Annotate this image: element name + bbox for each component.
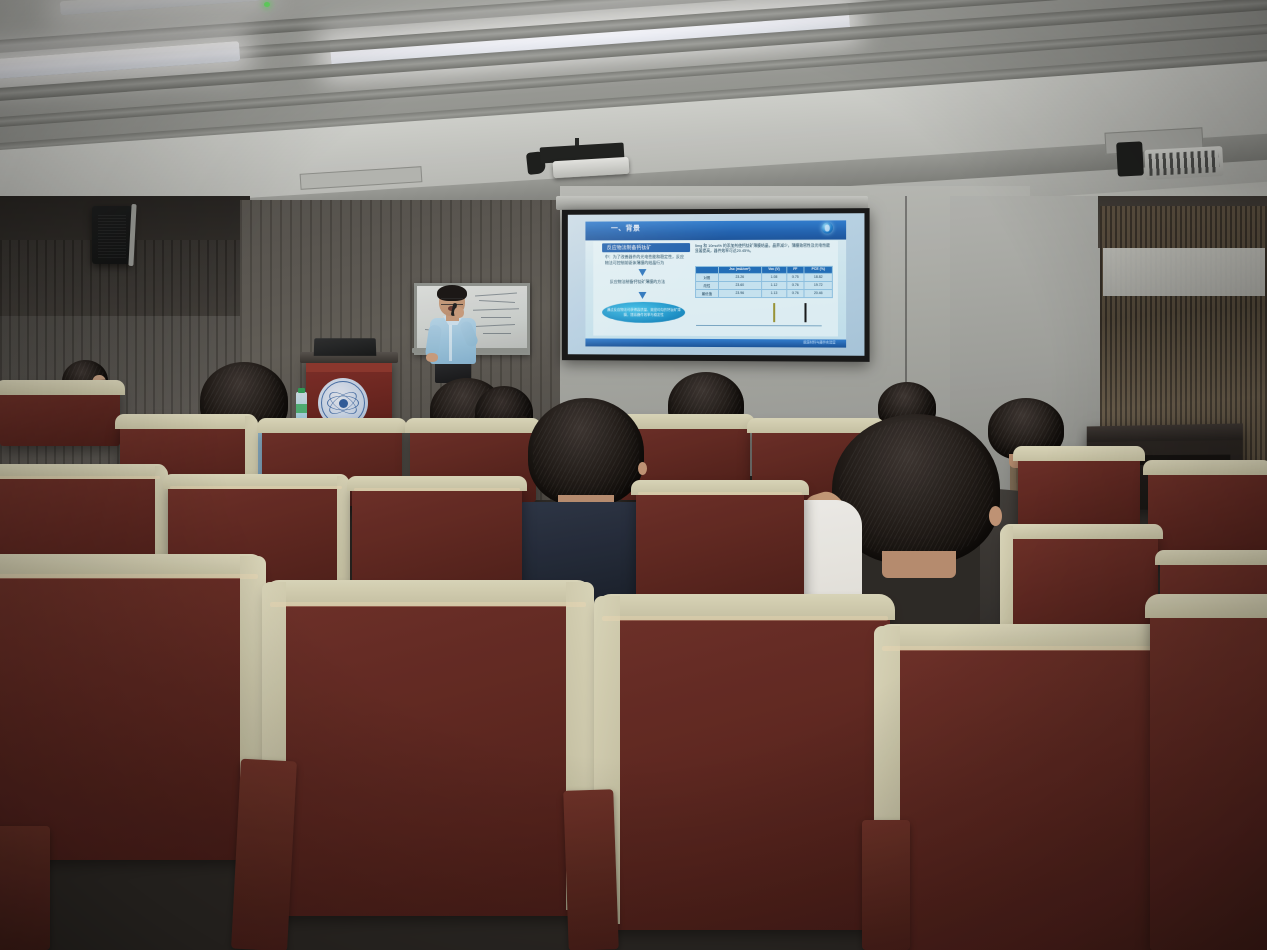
person-ear — [989, 506, 1002, 526]
table-cell: 0.76 — [787, 281, 804, 289]
bottle-label — [296, 404, 307, 413]
presenter-gesturing-hand — [426, 353, 438, 362]
seat-trim — [0, 380, 125, 395]
sample-image-dark — [804, 303, 806, 322]
slide-header-bar: 一、背景 — [585, 220, 846, 240]
table-cell: 19.72 — [804, 281, 833, 289]
presentation-slide: 一、背景 反应物法制备钙钛矿 中：为了改善器件的光电性能和稳定性，反应物法可控制… — [585, 220, 846, 347]
table-cell: 20.46 — [804, 289, 833, 297]
wall-mounted-loudspeaker — [92, 206, 132, 264]
audience-member — [528, 398, 644, 506]
flow-arrow-icon — [639, 269, 647, 276]
lecture-hall-photograph: 一、背景 反应物法制备钙钛矿 中：为了改善器件的光电性能和稳定性，反应物法可控制… — [0, 0, 1267, 950]
seat-back — [0, 560, 260, 860]
slide-footer-note: 能源材料与器件实验室 — [803, 340, 835, 345]
table-cell: 23.60 — [718, 281, 761, 289]
projection-screen: 一、背景 反应物法制备钙钛矿 中：为了改善器件的光电性能和稳定性，反应物法可控制… — [562, 208, 870, 362]
seat-trim — [1145, 594, 1267, 618]
seat-edge-highlight — [638, 492, 802, 495]
bottle-cap — [298, 388, 305, 393]
slide-process-diagram — [690, 312, 833, 332]
seat-back — [600, 600, 890, 930]
seat-armrest — [862, 820, 910, 950]
ceiling-bracket — [1116, 141, 1144, 176]
person-neck — [882, 551, 956, 578]
table-cell: 最优值 — [695, 289, 718, 297]
auditorium-seat — [1148, 466, 1267, 562]
table-cell: 0.75 — [787, 273, 804, 281]
auditorium-seat-foreground — [880, 630, 1180, 950]
seat-armrest — [0, 826, 50, 950]
flow-arrow-icon — [639, 292, 647, 299]
seat-edge-highlight — [354, 488, 520, 491]
seat-back — [1150, 600, 1267, 950]
seat-back — [0, 386, 120, 446]
table-cell: 23.96 — [718, 289, 761, 297]
desk-top — [1087, 423, 1243, 442]
auditorium-seat-foreground — [0, 560, 260, 860]
auditorium-seat-foreground — [1150, 600, 1267, 950]
projector-vent-grille — [1148, 150, 1219, 176]
slide-right-column: 5mg 和 10mol% 的添加剂使钙钛矿薄膜结晶，晶界减少，薄膜致密性及光电性… — [695, 244, 833, 255]
podium-front-strip — [306, 362, 392, 372]
table-header-cell: Jsc (mA/cm²) — [718, 266, 761, 273]
seat-trim — [1155, 550, 1267, 565]
seat-back — [268, 586, 588, 916]
seat-trim — [1013, 446, 1145, 461]
table-cell: 23.26 — [718, 273, 761, 281]
flow-conclusion-ellipse: 通过反应物法可获得高质量、致密均匀的钙钛矿薄膜，提高器件效率与稳定性 — [603, 302, 686, 323]
screen-surface: 一、背景 反应物法制备钙钛矿 中：为了改善器件的光电性能和稳定性，反应物法可控制… — [568, 213, 865, 356]
slide-paragraph: 5mg 和 10mol% 的添加剂使钙钛矿薄膜结晶，晶界减少，薄膜致密性及光电性… — [695, 244, 833, 255]
person-ear — [638, 462, 647, 475]
table-cell: 1.13 — [761, 289, 787, 297]
table-cell: 1.12 — [761, 281, 787, 289]
table-header-cell: FF — [787, 266, 804, 273]
table-cell: 改性 — [695, 281, 718, 289]
slide-footer-bar: 能源材料与器件实验室 — [585, 338, 846, 347]
seat-back — [1148, 466, 1267, 562]
person-hair — [528, 398, 644, 506]
seat-edge-highlight — [270, 602, 586, 607]
seat-armrest — [231, 759, 297, 950]
table-cell: 0.76 — [787, 289, 804, 297]
slide-subsection-title: 反应物法制备钙钛矿 — [607, 244, 651, 251]
table-row: 改性 23.60 1.12 0.76 19.72 — [695, 281, 832, 289]
table-row: 对照 23.26 1.08 0.75 18.82 — [695, 273, 832, 281]
table-cell: 1.08 — [761, 273, 787, 281]
flow-conclusion-text: 通过反应物法可获得高质量、致密均匀的钙钛矿薄膜，提高器件效率与稳定性 — [603, 308, 686, 317]
seat-trim — [257, 418, 407, 433]
table-header-cell: PCE (%) — [804, 266, 833, 273]
ceiling-mounted-projector — [1144, 146, 1223, 180]
emblem-core — [339, 399, 348, 408]
table-header-cell: Voc (V) — [761, 266, 787, 273]
flow-step-1-text: 中：为了改善器件的光电性能和稳定性，反应物法可控制前驱体薄膜的结晶行为 — [605, 255, 685, 266]
seat-edge-highlight — [882, 646, 1178, 651]
seat-trim — [1143, 460, 1267, 475]
right-wall-light-panel — [1103, 248, 1265, 296]
seat-edge-highlight — [602, 616, 888, 621]
table-cell: 18.82 — [804, 273, 833, 281]
ceiling-indicator-light — [264, 2, 270, 7]
sample-image-yellow — [773, 303, 775, 322]
device-performance-table: Jsc (mA/cm²) Voc (V) FF PCE (%) 对照 23.26… — [695, 266, 833, 298]
seat-back — [880, 630, 1180, 950]
table-row: 最优值 23.96 1.13 0.76 20.46 — [695, 289, 832, 297]
podium-laptop — [314, 338, 377, 356]
table-cell: 对照 — [695, 273, 718, 281]
seat-edge-highlight — [0, 574, 258, 579]
auditorium-seat-foreground — [600, 600, 890, 930]
seat-trim — [115, 414, 257, 429]
table-header-cell — [695, 266, 718, 273]
presenter-speaking — [425, 287, 481, 375]
flow-step-2-text: 反应物法制备钙钛矿薄膜的方法 — [610, 279, 678, 284]
auditorium-seat-foreground — [268, 586, 588, 916]
seat-edge-highlight — [170, 486, 342, 489]
auditorium-seat — [0, 386, 120, 446]
slide-subsection-title-box: 反应物法制备钙钛矿 — [603, 243, 690, 252]
shirt-placket — [449, 319, 452, 361]
seat-armrest — [563, 789, 619, 950]
institution-logo-icon — [822, 223, 833, 234]
slide-body: 反应物法制备钙钛矿 中：为了改善器件的光电性能和稳定性，反应物法可控制前驱体薄膜… — [593, 241, 838, 337]
slide-section-title: 一、背景 — [611, 224, 641, 234]
seat-trim — [1001, 524, 1163, 539]
seat-edge-highlight — [0, 476, 160, 479]
seat-trim — [405, 418, 541, 433]
presenter-hand-holding-mic — [454, 307, 464, 318]
